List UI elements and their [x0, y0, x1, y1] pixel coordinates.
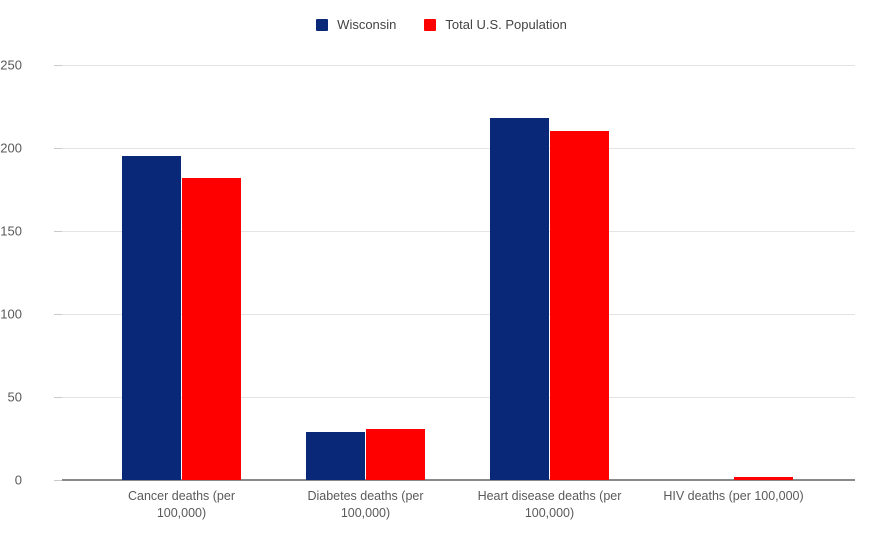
bar-group: [674, 65, 793, 480]
y-axis-tick-label: 0: [0, 473, 22, 488]
bar-wisconsin[interactable]: [122, 156, 181, 480]
legend-swatch-total-us-population: [424, 19, 436, 31]
legend-item-label: Wisconsin: [337, 18, 396, 31]
y-axis-tick: [54, 65, 62, 66]
bar-total-us-population[interactable]: [366, 429, 425, 480]
legend-item-label: Total U.S. Population: [445, 18, 566, 31]
x-axis-category-label: HIV deaths (per 100,000): [634, 488, 834, 505]
y-axis-tick-label: 200: [0, 141, 22, 156]
bar-total-us-population[interactable]: [550, 131, 609, 480]
y-axis-tick-label: 50: [0, 390, 22, 405]
x-axis-category-label: Heart disease deaths (per 100,000): [450, 488, 650, 522]
legend-swatch-wisconsin: [316, 19, 328, 31]
x-axis-category-label: Cancer deaths (per 100,000): [82, 488, 282, 522]
y-axis-tick: [54, 480, 62, 481]
bar-wisconsin[interactable]: [306, 432, 365, 480]
legend-item[interactable]: Wisconsin: [316, 18, 396, 31]
y-axis-tick: [54, 231, 62, 232]
bar-total-us-population[interactable]: [182, 178, 241, 480]
y-axis-tick: [54, 314, 62, 315]
bar-group: [490, 65, 609, 480]
y-axis-tick-label: 250: [0, 58, 22, 73]
bar-wisconsin[interactable]: [490, 118, 549, 480]
y-axis-tick: [54, 397, 62, 398]
bar-group: [306, 65, 425, 480]
chart-legend: WisconsinTotal U.S. Population: [0, 18, 883, 31]
y-axis-tick-label: 100: [0, 307, 22, 322]
y-axis-tick-label: 150: [0, 224, 22, 239]
bar-group: [122, 65, 241, 480]
bar-total-us-population[interactable]: [734, 477, 793, 480]
gridline: [62, 480, 855, 481]
y-axis-tick: [54, 148, 62, 149]
plot-area: 050100150200250: [62, 65, 855, 480]
bar-chart: WisconsinTotal U.S. Population 050100150…: [0, 0, 883, 541]
legend-item[interactable]: Total U.S. Population: [424, 18, 566, 31]
x-axis-category-label: Diabetes deaths (per 100,000): [266, 488, 466, 522]
